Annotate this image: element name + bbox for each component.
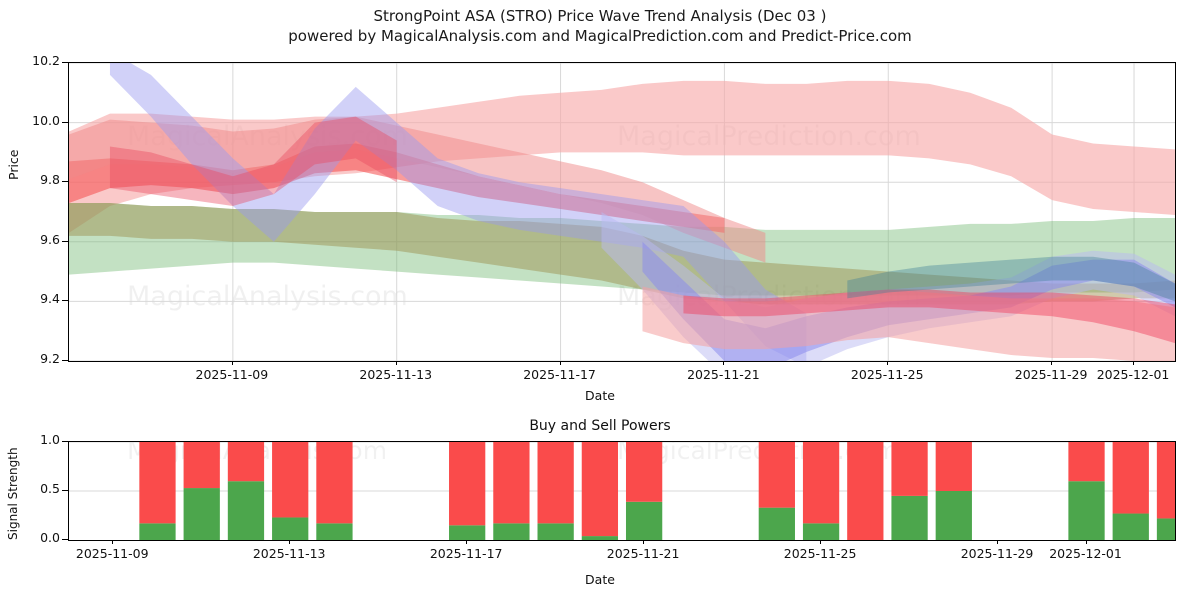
powers-x-tick: 2025-11-21 <box>588 546 698 561</box>
price-x-tick: 2025-12-01 <box>1078 367 1188 382</box>
powers-y-tick: 1.0 <box>0 432 60 447</box>
price-x-tick: 2025-11-13 <box>341 367 451 382</box>
powers-x-tick: 2025-11-13 <box>234 546 344 561</box>
price-y-tick: 9.8 <box>0 172 60 187</box>
powers-x-axis-label: Date <box>0 572 1200 587</box>
chart-page: StrongPoint ASA (STRO) Price Wave Trend … <box>0 0 1200 600</box>
powers-chart-svg <box>69 442 1175 540</box>
price-x-tick: 2025-11-21 <box>668 367 778 382</box>
price-x-tick: 2025-11-17 <box>505 367 615 382</box>
powers-x-tick: 2025-12-01 <box>1031 546 1141 561</box>
price-x-axis-label: Date <box>0 388 1200 403</box>
powers-y-tick: 0.5 <box>0 481 60 496</box>
price-x-tick: 2025-11-09 <box>177 367 287 382</box>
page-title: StrongPoint ASA (STRO) Price Wave Trend … <box>0 6 1200 26</box>
price-y-tick: 9.2 <box>0 351 60 366</box>
price-chart-plot-area: MagicalAnalysis.com MagicalPrediction.co… <box>68 62 1176 362</box>
powers-chart-title: Buy and Sell Powers <box>0 418 1200 434</box>
powers-x-tick: 2025-11-09 <box>57 546 167 561</box>
powers-chart-plot-area: MagicalAnalysis.com MagicalPrediction.co… <box>68 441 1176 541</box>
powers-x-tick: 2025-11-17 <box>411 546 521 561</box>
price-x-tick: 2025-11-25 <box>832 367 942 382</box>
powers-x-tick: 2025-11-25 <box>765 546 875 561</box>
price-y-tick: 10.0 <box>0 113 60 128</box>
price-chart-svg <box>69 63 1175 361</box>
page-subtitle: powered by MagicalAnalysis.com and Magic… <box>0 26 1200 46</box>
price-y-tick: 9.4 <box>0 291 60 306</box>
price-y-tick: 9.6 <box>0 232 60 247</box>
chart-title-block: StrongPoint ASA (STRO) Price Wave Trend … <box>0 6 1200 46</box>
powers-y-tick: 0.0 <box>0 530 60 545</box>
price-y-tick: 10.2 <box>0 53 60 68</box>
